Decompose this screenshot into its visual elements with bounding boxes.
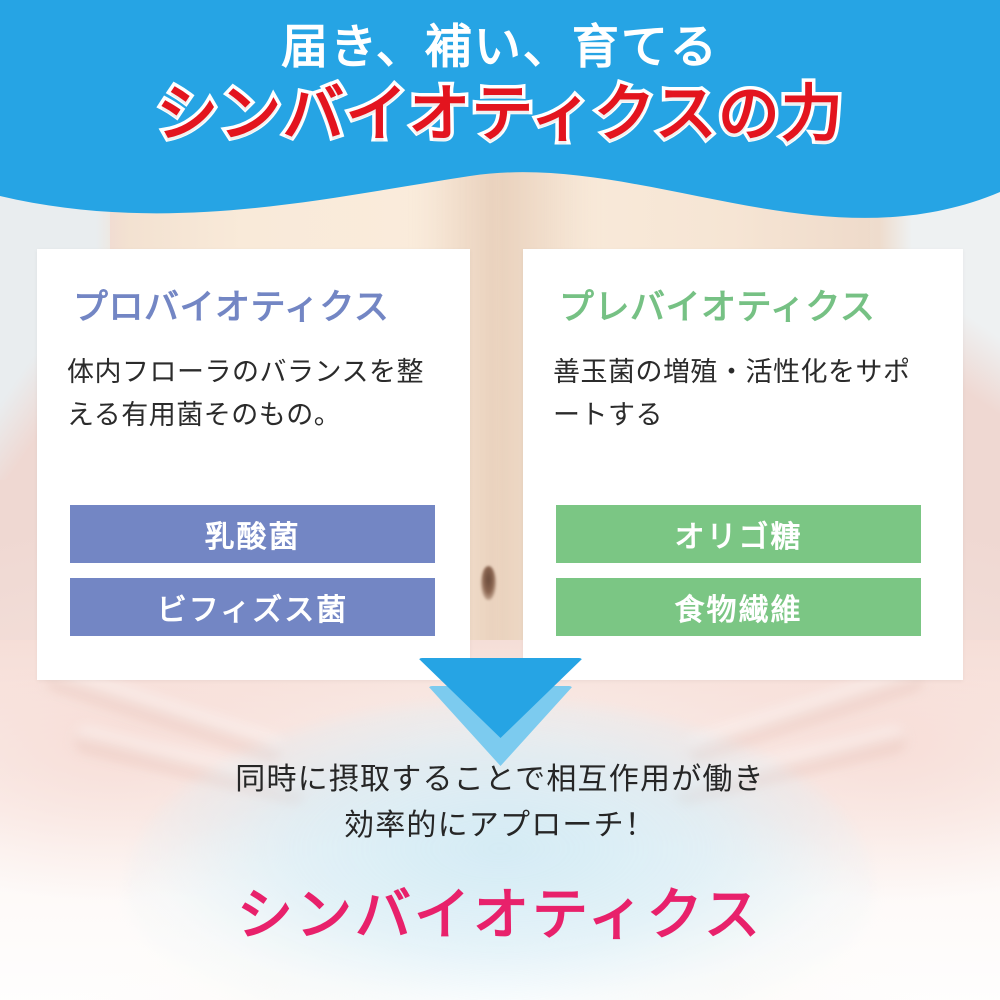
down-arrow-icon	[418, 658, 583, 773]
photo-navel	[481, 566, 496, 600]
conclusion-title: シンバイオティクス	[0, 870, 1000, 951]
card-title-prebiotics: プレバイオティクス	[559, 279, 875, 330]
card-probiotics: プロバイオティクス 体内フローラのバランスを整える有用菌そのもの。 乳酸菌 ビフ…	[37, 249, 470, 680]
tag-lactic-acid-bacteria: 乳酸菌	[70, 505, 435, 563]
header-text-block: 届き、補い、育てる シンバイオティクスの力	[0, 0, 1000, 151]
header-band: 届き、補い、育てる シンバイオティクスの力	[0, 0, 1000, 250]
header-line-2: シンバイオティクスの力	[0, 79, 1000, 150]
tag-bifidobacteria: ビフィズス菌	[70, 578, 435, 636]
card-prebiotics: プレバイオティクス 善玉菌の増殖・活性化をサポートする オリゴ糖 食物繊維	[523, 249, 963, 680]
conclusion-line-2: 効率的にアプローチ！	[0, 803, 1000, 849]
card-title-probiotics: プロバイオティクス	[73, 279, 389, 330]
poster-canvas: 届き、補い、育てる シンバイオティクスの力 プロバイオティクス 体内フローラのバ…	[0, 0, 1000, 1000]
card-body-probiotics: 体内フローラのバランスを整える有用菌そのもの。	[67, 351, 445, 436]
conclusion-line-1: 同時に摂取することで相互作用が働き	[0, 757, 1000, 803]
header-line-1: 届き、補い、育てる	[0, 18, 1000, 75]
tag-dietary-fiber: 食物繊維	[556, 578, 921, 636]
card-body-prebiotics: 善玉菌の増殖・活性化をサポートする	[553, 351, 931, 436]
conclusion-block: 同時に摂取することで相互作用が働き 効率的にアプローチ！ シンバイオティクス	[0, 757, 1000, 951]
tag-oligosaccharide: オリゴ糖	[556, 505, 921, 563]
